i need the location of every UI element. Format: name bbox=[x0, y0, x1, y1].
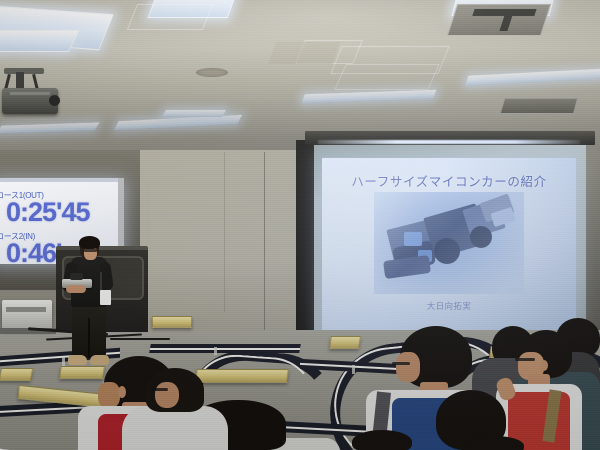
screen-top-glow bbox=[318, 140, 580, 144]
track-barrier-block bbox=[59, 366, 105, 379]
ceiling-light-panel bbox=[452, 0, 555, 16]
track-barrier-block bbox=[329, 336, 361, 349]
presenter-glasses bbox=[84, 249, 97, 252]
wall-seam bbox=[224, 152, 225, 312]
presenter-leg-split bbox=[88, 318, 90, 358]
ceiling-air-vent bbox=[447, 4, 551, 36]
presenter-lanyard bbox=[100, 272, 102, 292]
track-joint bbox=[214, 347, 217, 355]
presenter-hair bbox=[79, 236, 100, 249]
printer-paper-slot bbox=[6, 307, 46, 312]
ceiling-light-strip bbox=[466, 68, 600, 85]
ceiling-tile-outline bbox=[295, 40, 363, 64]
ceiling-air-vent bbox=[500, 98, 579, 114]
ceiling-light-panel bbox=[0, 6, 114, 51]
wall-barrier-block bbox=[152, 316, 192, 328]
ceiling-light-panel bbox=[0, 30, 79, 52]
ceiling-light-strip bbox=[301, 90, 436, 104]
ceiling-light-panel bbox=[148, 0, 237, 18]
presentation-slide: ハーフサイズマイコンカーの紹介 大日向拓実 bbox=[322, 158, 576, 336]
timer-row-2-time: 0:46' bbox=[6, 240, 61, 267]
track-joint bbox=[352, 365, 355, 374]
presenter-name-badge bbox=[100, 290, 111, 305]
slide-photo-micon-car bbox=[374, 192, 524, 294]
projector-vent-line bbox=[10, 92, 50, 95]
ceiling-light-strip bbox=[0, 122, 100, 133]
ceiling-tile-outline bbox=[127, 4, 214, 30]
wall-seam bbox=[264, 152, 265, 332]
micon-car-part bbox=[70, 273, 83, 280]
track-joint bbox=[62, 357, 65, 366]
seminar-room-photo: コース1(OUT) 0:25'45 コース2(IN) 0:46' ハーフサイズマ… bbox=[0, 0, 600, 450]
ceiling-light-strip bbox=[114, 115, 242, 130]
presenter-shoe bbox=[68, 355, 87, 365]
ceiling-tile-outline bbox=[330, 46, 449, 74]
ceiling-light-strip bbox=[162, 110, 226, 117]
presenter-hands bbox=[66, 285, 86, 293]
track-barrier-block bbox=[0, 368, 33, 381]
presenter-shoe bbox=[90, 355, 109, 365]
floor-printer bbox=[2, 300, 52, 330]
ceiling-tile-outline bbox=[334, 64, 440, 90]
floor-cable bbox=[110, 338, 170, 340]
ceiling-speaker bbox=[196, 68, 228, 77]
track-center-line bbox=[150, 348, 300, 350]
projector-lens bbox=[49, 95, 60, 106]
slide-title: ハーフサイズマイコンカーの紹介 bbox=[322, 171, 576, 190]
track-barrier-block bbox=[195, 369, 288, 383]
timer-row-1-time: 0:25'45 bbox=[6, 199, 90, 226]
slide-caption-presenter-name: 大日向拓実 bbox=[322, 300, 576, 312]
projector-mount-plate bbox=[4, 68, 44, 74]
ceiling-tile bbox=[268, 42, 340, 64]
